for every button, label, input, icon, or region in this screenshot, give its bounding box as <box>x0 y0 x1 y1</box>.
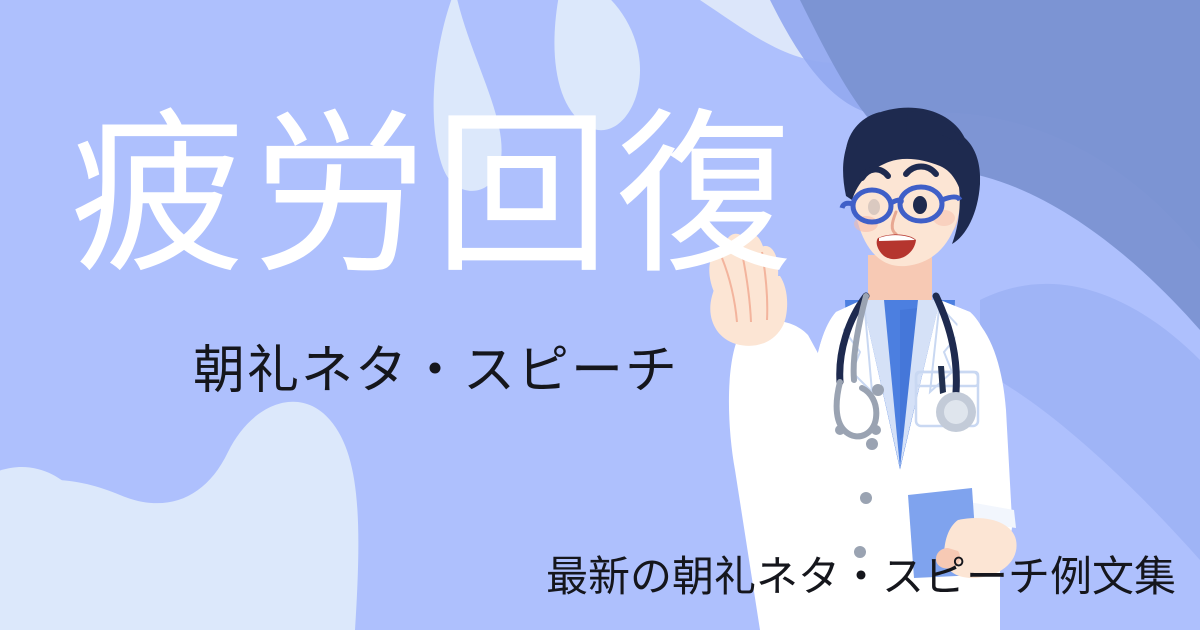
page-subtitle: 朝礼ネタ・スピーチ <box>193 345 679 397</box>
banner-canvas: 疲労回復 朝礼ネタ・スピーチ 最新の朝礼ネタ・スピーチ例文集 <box>0 0 1200 630</box>
page-footer-caption: 最新の朝礼ネタ・スピーチ例文集 <box>546 556 1176 598</box>
page-title: 疲労回復 <box>70 108 798 284</box>
text-layer: 疲労回復 朝礼ネタ・スピーチ 最新の朝礼ネタ・スピーチ例文集 <box>0 0 1200 630</box>
